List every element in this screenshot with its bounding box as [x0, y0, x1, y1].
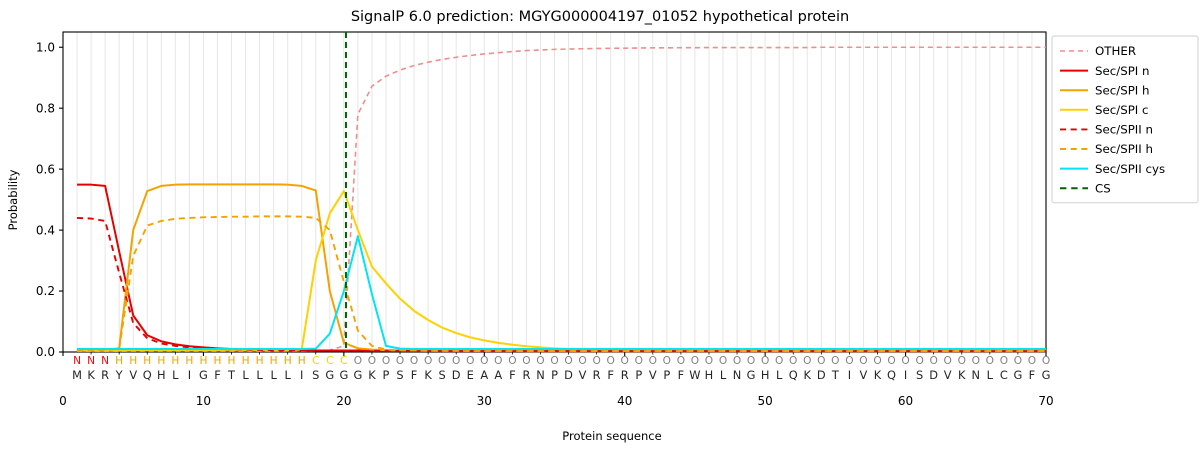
sequence-residue: K — [958, 368, 966, 382]
region-label: O — [944, 355, 952, 367]
sequence-residue: V — [860, 368, 868, 382]
region-label: N — [101, 355, 109, 367]
region-label: O — [915, 355, 923, 367]
sequence-residue: I — [904, 368, 907, 382]
sequence-residue: A — [494, 368, 502, 382]
region-label: H — [298, 355, 306, 367]
region-label: O — [396, 355, 404, 367]
sequence-residue: R — [101, 368, 109, 382]
sequence-residue: I — [300, 368, 303, 382]
region-label: H — [143, 355, 151, 367]
region-label: O — [578, 355, 586, 367]
region-label: H — [171, 355, 179, 367]
sequence-residue: R — [593, 368, 601, 382]
region-label: C — [312, 355, 319, 367]
region-label: O — [733, 355, 741, 367]
legend-label: Sec/SPII cys — [1095, 162, 1165, 176]
sequence-residue: L — [776, 368, 783, 382]
region-label: O — [817, 355, 825, 367]
legend-label: Sec/SPII h — [1095, 142, 1153, 156]
region-label: O — [972, 355, 980, 367]
y-tick-label: 0.4 — [36, 223, 55, 237]
y-tick-label: 0.6 — [36, 162, 55, 176]
sequence-residue: Q — [789, 368, 798, 382]
sequence-residue: L — [720, 368, 727, 382]
sequence-residue: K — [87, 368, 95, 382]
region-label: O — [1028, 355, 1036, 367]
region-label: O — [494, 355, 502, 367]
sequence-residue: G — [353, 368, 362, 382]
sequence-residue: Q — [887, 368, 896, 382]
region-label: O — [775, 355, 783, 367]
region-label: O — [887, 355, 895, 367]
region-label: O — [1000, 355, 1008, 367]
x-tick-label: 60 — [898, 394, 913, 408]
region-label: C — [326, 355, 333, 367]
region-label: H — [270, 355, 278, 367]
sequence-residue: Y — [115, 368, 123, 382]
region-label: O — [1042, 355, 1050, 367]
region-label: O — [424, 355, 432, 367]
y-tick-label: 0.8 — [36, 101, 55, 115]
sequence-residue: L — [285, 368, 292, 382]
legend[interactable]: OTHERSec/SPI nSec/SPI hSec/SPI cSec/SPII… — [1052, 36, 1198, 203]
sequence-residue: H — [157, 368, 166, 382]
sequence-residue: F — [678, 368, 685, 382]
sequence-residue: S — [439, 368, 446, 382]
region-label: O — [789, 355, 797, 367]
sequence-residue: N — [972, 368, 981, 382]
region-label: O — [621, 355, 629, 367]
sequence-residue: F — [1029, 368, 1036, 382]
region-label: O — [986, 355, 994, 367]
region-label: O — [929, 355, 937, 367]
region-label: O — [845, 355, 853, 367]
region-label: O — [747, 355, 755, 367]
sequence-residue: T — [227, 368, 235, 382]
sequence-residue: G — [325, 368, 334, 382]
region-label: O — [677, 355, 685, 367]
x-tick-label: 50 — [758, 394, 773, 408]
sequence-residue: L — [987, 368, 994, 382]
region-label: O — [368, 355, 376, 367]
region-label: H — [213, 355, 221, 367]
legend-label: Sec/SPII n — [1095, 123, 1153, 137]
sequence-residue: D — [817, 368, 826, 382]
region-label: O — [803, 355, 811, 367]
region-label: O — [508, 355, 516, 367]
sequence-residue: K — [874, 368, 882, 382]
chart-title: SignalP 6.0 prediction: MGYG000004197_01… — [351, 9, 849, 25]
sequence-residue: G — [1014, 368, 1023, 382]
region-label: O — [592, 355, 600, 367]
sequence-residue: G — [747, 368, 756, 382]
region-label: O — [606, 355, 614, 367]
region-label: O — [1014, 355, 1022, 367]
region-label: O — [564, 355, 572, 367]
sequence-residue: D — [452, 368, 461, 382]
region-label: O — [761, 355, 769, 367]
region-label: O — [649, 355, 657, 367]
legend-label: Sec/SPI h — [1095, 83, 1150, 97]
legend-box — [1052, 36, 1198, 203]
sequence-residue: H — [761, 368, 770, 382]
sequence-residue: K — [804, 368, 812, 382]
region-label: O — [466, 355, 474, 367]
sequence-residue: C — [1000, 368, 1008, 382]
region-label: H — [185, 355, 193, 367]
sequence-residue: D — [929, 368, 938, 382]
sequence-residue: P — [383, 368, 390, 382]
region-label: O — [873, 355, 881, 367]
region-label: H — [157, 355, 165, 367]
region-label: O — [635, 355, 643, 367]
sequence-residue: H — [705, 368, 714, 382]
sequence-residue: V — [129, 368, 137, 382]
region-label: H — [228, 355, 236, 367]
sequence-residue: S — [396, 368, 403, 382]
sequence-residue: M — [72, 368, 82, 382]
sequence-residue: G — [1042, 368, 1051, 382]
sequence-residue: F — [607, 368, 614, 382]
region-label: O — [719, 355, 727, 367]
sequence-residue: R — [522, 368, 530, 382]
region-label: H — [129, 355, 137, 367]
sequence-residue: L — [242, 368, 249, 382]
region-label: O — [522, 355, 530, 367]
region-label: N — [87, 355, 95, 367]
y-tick-label: 1.0 — [36, 40, 55, 54]
region-label: O — [550, 355, 558, 367]
sequence-residue: N — [536, 368, 545, 382]
plot-background — [0, 0, 1200, 450]
sequence-residue: G — [339, 368, 348, 382]
region-label: O — [354, 355, 362, 367]
legend-label: Sec/SPI c — [1095, 103, 1149, 117]
sequence-residue: T — [831, 368, 839, 382]
region-label: O — [382, 355, 390, 367]
region-label: O — [705, 355, 713, 367]
sequence-residue: K — [424, 368, 432, 382]
sequence-residue: F — [214, 368, 221, 382]
signalp-plot: 0.00.20.40.60.81.0 010203040506070 NNNHH… — [0, 0, 1200, 450]
region-label: H — [256, 355, 264, 367]
sequence-residue: P — [663, 368, 670, 382]
region-label: O — [831, 355, 839, 367]
legend-label: CS — [1095, 181, 1111, 195]
x-tick-label: 10 — [196, 394, 211, 408]
legend-label: Sec/SPI n — [1095, 64, 1150, 78]
sequence-residue: I — [188, 368, 191, 382]
sequence-residue: V — [579, 368, 587, 382]
region-label: O — [958, 355, 966, 367]
region-label: O — [691, 355, 699, 367]
sequence-residue: N — [733, 368, 742, 382]
sequence-residue: L — [256, 368, 263, 382]
region-label: O — [410, 355, 418, 367]
sequence-residue: P — [635, 368, 642, 382]
region-label: N — [73, 355, 81, 367]
y-axis-label: Probability — [6, 169, 20, 230]
signalp-figure: 0.00.20.40.60.81.0 010203040506070 NNNHH… — [0, 0, 1200, 450]
region-label: O — [438, 355, 446, 367]
sequence-residue: I — [848, 368, 851, 382]
region-label: O — [480, 355, 488, 367]
region-label: H — [242, 355, 250, 367]
sequence-residue: E — [467, 368, 474, 382]
x-tick-label: 40 — [617, 394, 632, 408]
region-label: C — [340, 355, 347, 367]
x-tick-label: 0 — [59, 394, 67, 408]
y-tick-label: 0.2 — [36, 284, 55, 298]
region-label: O — [452, 355, 460, 367]
sequence-residue: V — [944, 368, 952, 382]
sequence-residue: W — [689, 368, 700, 382]
sequence-residue: P — [551, 368, 558, 382]
sequence-residue: G — [199, 368, 208, 382]
sequence-residue: R — [621, 368, 629, 382]
region-label: O — [536, 355, 544, 367]
sequence-residue: F — [509, 368, 516, 382]
sequence-residue: L — [172, 368, 179, 382]
sequence-residue: F — [411, 368, 418, 382]
sequence-residue: V — [649, 368, 657, 382]
sequence-residue: D — [564, 368, 573, 382]
region-label: O — [663, 355, 671, 367]
legend-label: OTHER — [1095, 44, 1136, 58]
region-label: H — [284, 355, 292, 367]
y-tick-label: 0.0 — [36, 345, 55, 359]
sequence-residue: A — [480, 368, 488, 382]
x-axis-label: Protein sequence — [562, 429, 661, 443]
region-label: H — [199, 355, 207, 367]
sequence-residue: L — [270, 368, 277, 382]
sequence-residue: S — [916, 368, 923, 382]
region-label: H — [115, 355, 123, 367]
region-label: O — [901, 355, 909, 367]
sequence-residue: K — [368, 368, 376, 382]
region-label: O — [859, 355, 867, 367]
x-tick-label: 20 — [336, 394, 351, 408]
x-tick-label: 70 — [1038, 394, 1053, 408]
x-tick-label: 30 — [477, 394, 492, 408]
sequence-residue: Q — [143, 368, 152, 382]
sequence-residue: S — [312, 368, 319, 382]
